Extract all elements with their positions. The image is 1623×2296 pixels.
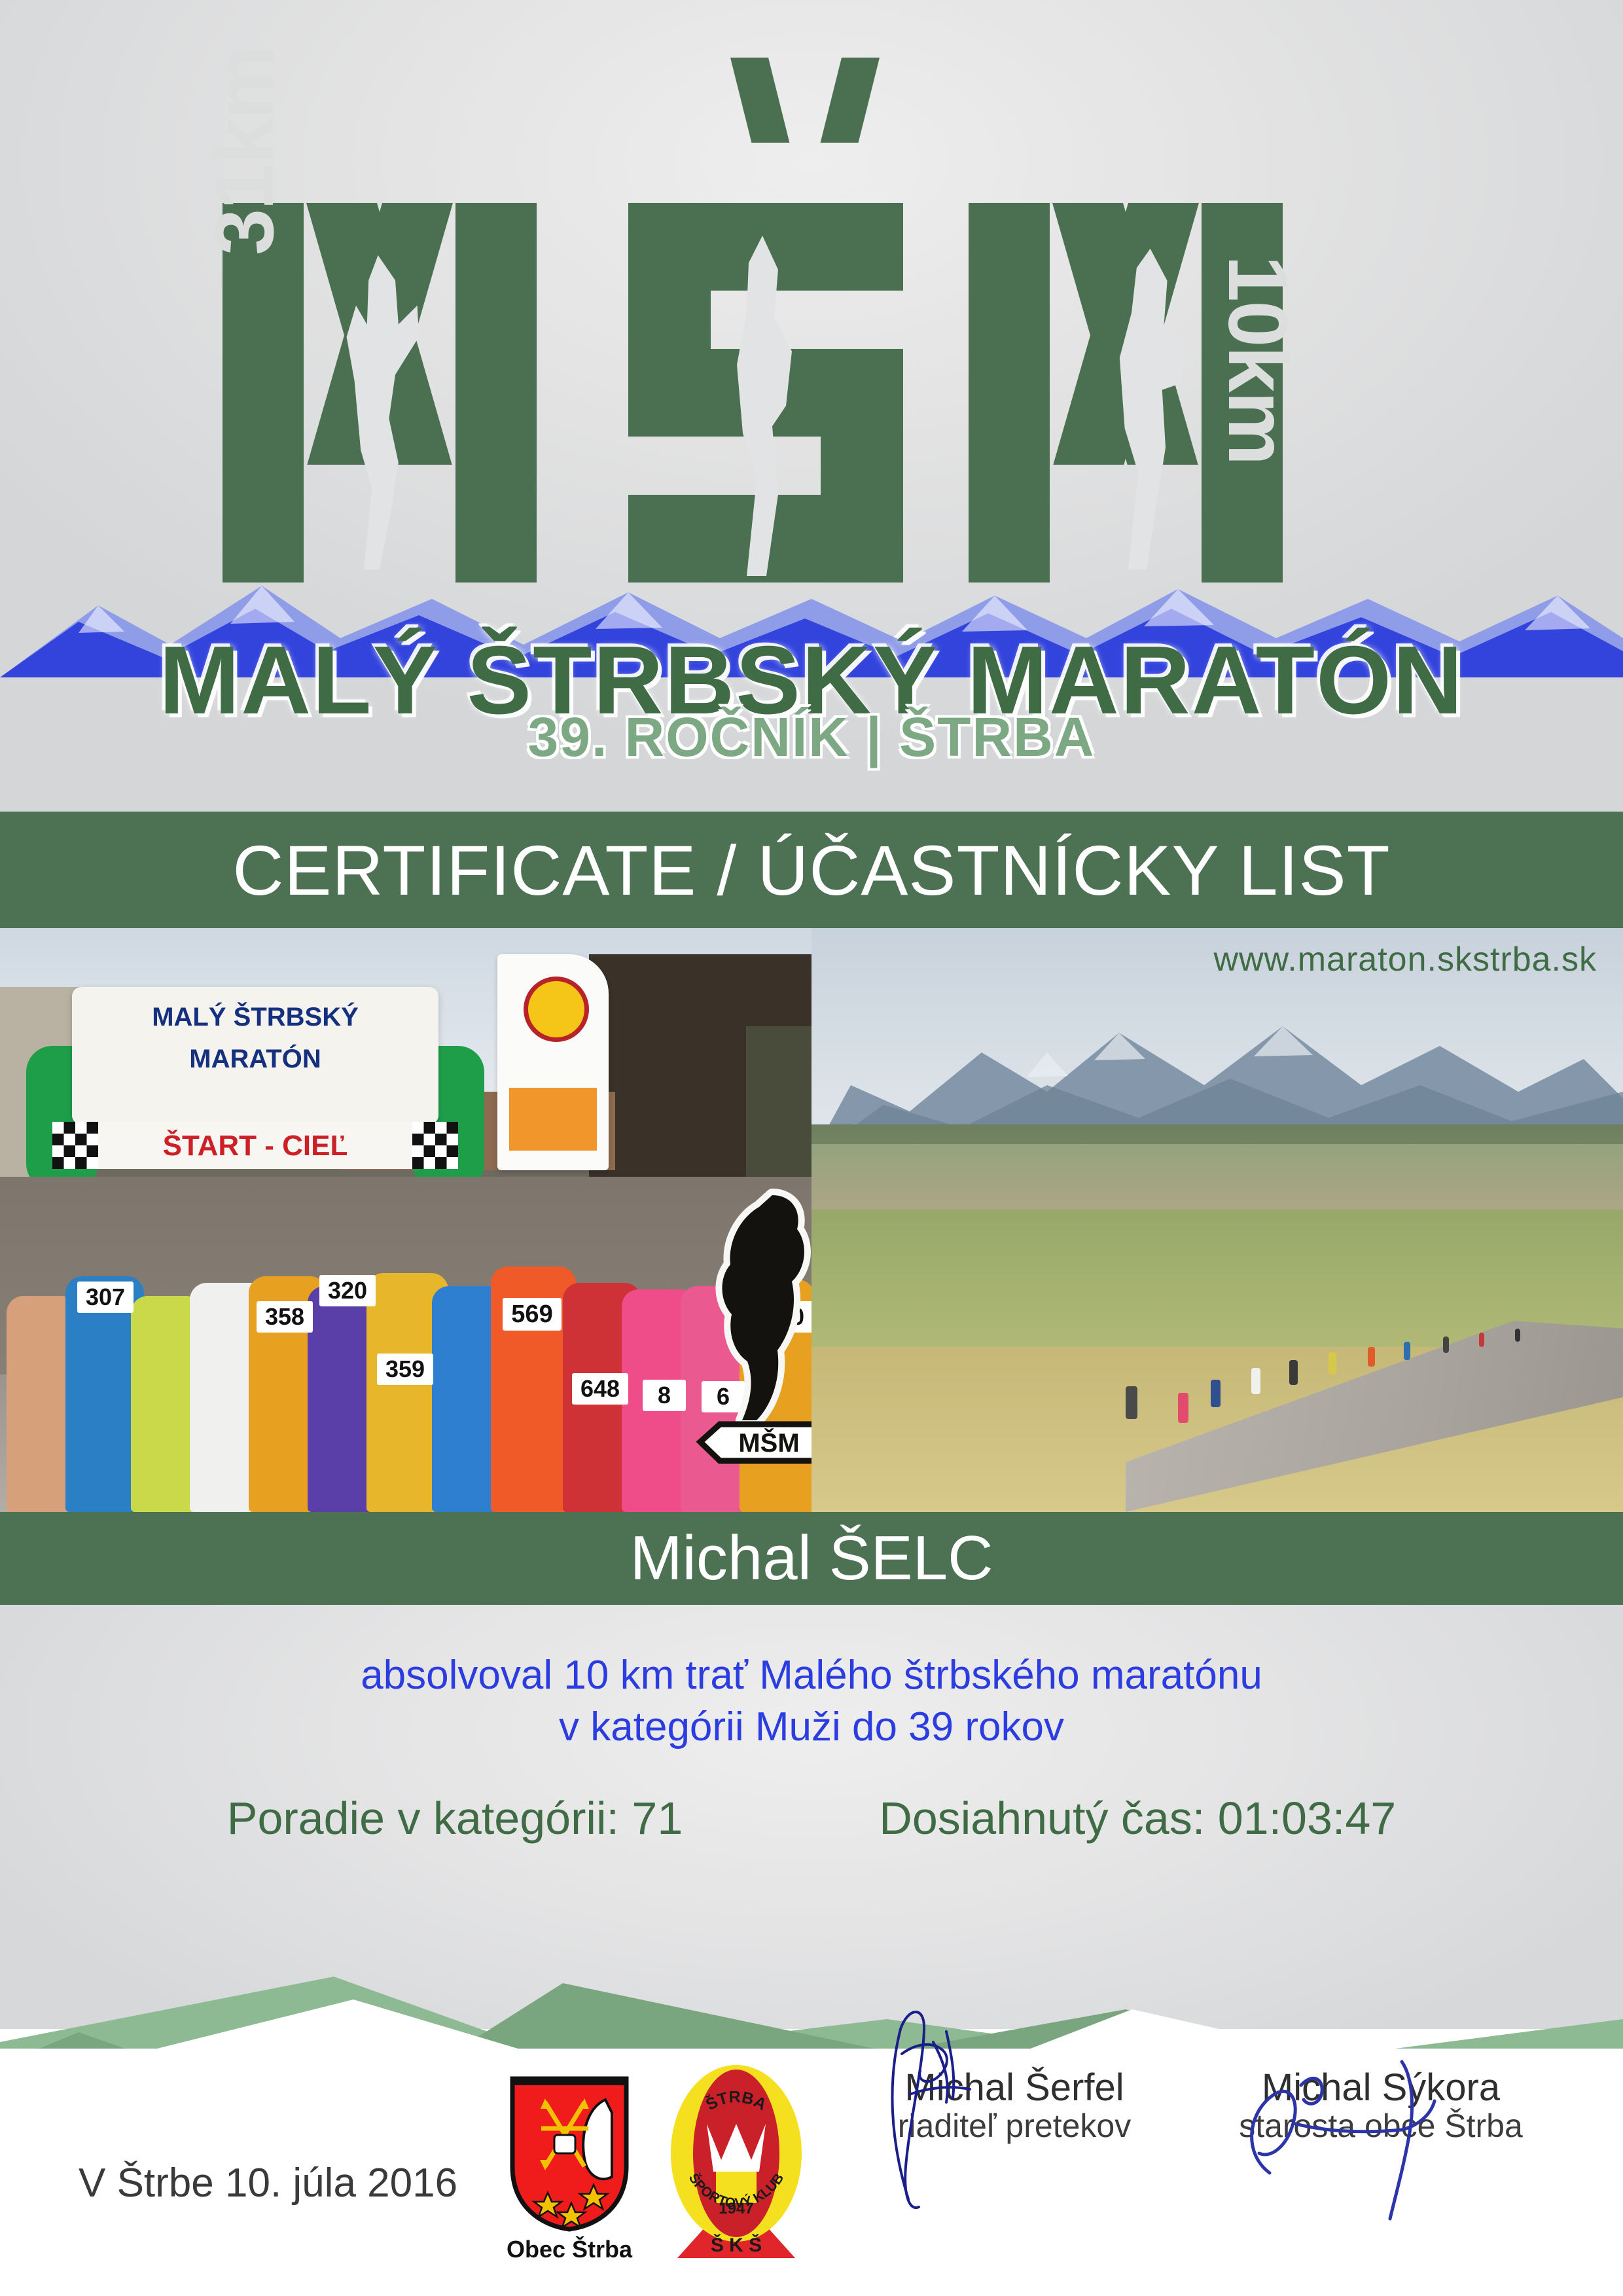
start-finish-tape: ŠTART - CIEĽ [52,1122,458,1169]
photo-course-landscape: www.maraton.skstrba.sk [811,928,1623,1512]
start-finish-arch: MALÝ ŠTRBSKÝ MARATÓN ŠTART - CIEĽ [26,967,484,1183]
emblem-text: MŠM [738,1427,799,1458]
sks-club-emblem-icon: ŠTRBA ŠPORTOVÝ KLUB 1947 Š K Š [661,2062,811,2265]
certificate-title: CERTIFICATE / ÚČASTNÍCKY LIST [232,829,1390,911]
club-bottom-text: Š K Š [711,2234,762,2256]
bib-number: 8 [643,1380,686,1411]
description-line-1: absolvoval 10 km trať Malého štrbského m… [0,1649,1623,1701]
bib-number: 648 [572,1373,628,1405]
issue-date: V Štrbe 10. júla 2016 [79,2160,457,2206]
bib-number: 569 [503,1298,562,1331]
start-finish-text: ŠTART - CIEĽ [52,1130,458,1162]
signatory-name: Michal Sýkora [1198,2068,1564,2108]
msm-runner-emblem-icon: MŠM [694,1183,811,1465]
village-crest: Obec Štrba [504,2075,635,2263]
course-runner [1368,1347,1375,1367]
course-runner [1329,1352,1336,1374]
signatory-name: Michal Šerfel [831,2068,1198,2108]
course-runner [1479,1333,1484,1347]
course-runner [1211,1380,1221,1407]
course-runner [1251,1368,1260,1394]
photo-strip: MALÝ ŠTRBSKÝ MARATÓN ŠTART - CIEĽ [0,928,1623,1512]
bib-number: 359 [377,1354,433,1385]
website-url: www.maraton.skstrba.sk [1214,940,1597,979]
arch-banner-line1: MALÝ ŠTRBSKÝ [72,1003,438,1032]
club-year: 1947 [719,2200,753,2217]
bib-number: 320 [319,1275,376,1306]
course-runner [1515,1329,1520,1342]
achievement-description: absolvoval 10 km trať Malého štrbského m… [0,1649,1623,1753]
distance-label-right: 10km [1209,255,1306,464]
certificate-page: 31km 10km MALÝ ŠTRBSKÝ MARATÓN 39. ROČNÍ… [0,0,1623,2296]
signatory-role: starosta obce Štrba [1198,2108,1564,2144]
results-row: Poradie v kategórii: 71 Dosiahnutý čas: … [0,1792,1623,1844]
obec-strba-crest-icon [507,2075,632,2232]
description-line-2: v kategórii Muži do 39 rokov [0,1701,1623,1753]
course-runner [1443,1336,1449,1353]
participant-name-band: Michal ŠELC [0,1512,1623,1605]
signatory-role: riaditeľ pretekov [831,2108,1198,2144]
distance-label-left: 31km [196,46,293,255]
category-rank: Poradie v kategórii: 71 [227,1792,683,1844]
certificate-title-band: CERTIFICATE / ÚČASTNÍCKY LIST [0,812,1623,928]
bib-number: 307 [77,1282,134,1313]
photo-start-line: MALÝ ŠTRBSKÝ MARATÓN ŠTART - CIEĽ [0,928,811,1512]
finish-time: Dosiahnutý čas: 01:03:47 [879,1792,1396,1844]
course-runner [1178,1393,1188,1423]
caron-accent-icon [730,58,894,143]
signatory-mayor: Michal Sýkora starosta obce Štrba [1198,2068,1564,2144]
course-runner [1289,1360,1298,1385]
course-runner [1404,1342,1410,1360]
logo-header-area: 31km 10km MALÝ ŠTRBSKÝ MARATÓN 39. ROČNÍ… [0,0,1623,812]
sponsor-flag [497,954,609,1170]
event-subtitle: 39. ROČNÍK | ŠTRBA [0,706,1623,769]
arch-banner-line2: MARATÓN [72,1045,438,1074]
course-spectator [1126,1386,1137,1419]
runner-crowd: 307 358 320 359 569 648 8 6 360 [0,1177,811,1512]
bib-number: 358 [257,1301,313,1333]
msm-wordmark: 31km 10km [0,39,1623,583]
signatory-race-director: Michal Šerfel riaditeľ pretekov [831,2068,1198,2144]
participant-name: Michal ŠELC [630,1522,993,1594]
village-crest-label: Obec Štrba [504,2236,635,2263]
